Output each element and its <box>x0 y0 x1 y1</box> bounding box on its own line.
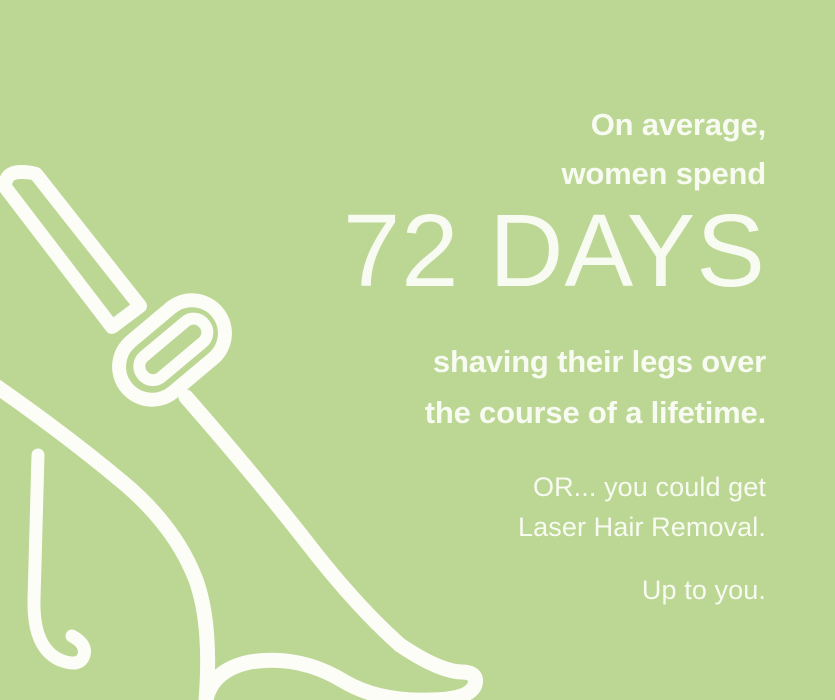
subhead-line-1: shaving their legs over <box>0 336 766 387</box>
kicker-line-2: women spend <box>0 149 766 198</box>
footer-line-2: Laser Hair Removal. <box>0 507 766 547</box>
subhead-line-2: the course of a lifetime. <box>0 387 766 438</box>
poster-canvas: On average, women spend 72 DAYS shaving … <box>0 0 835 700</box>
headline-statistic: 72 DAYS <box>0 196 766 306</box>
footer-line-3: Up to you. <box>0 570 766 610</box>
kicker-line-1: On average, <box>0 100 766 149</box>
footer-line-1: OR... you could get <box>0 467 766 507</box>
copy-block: On average, women spend 72 DAYS shaving … <box>0 0 766 700</box>
